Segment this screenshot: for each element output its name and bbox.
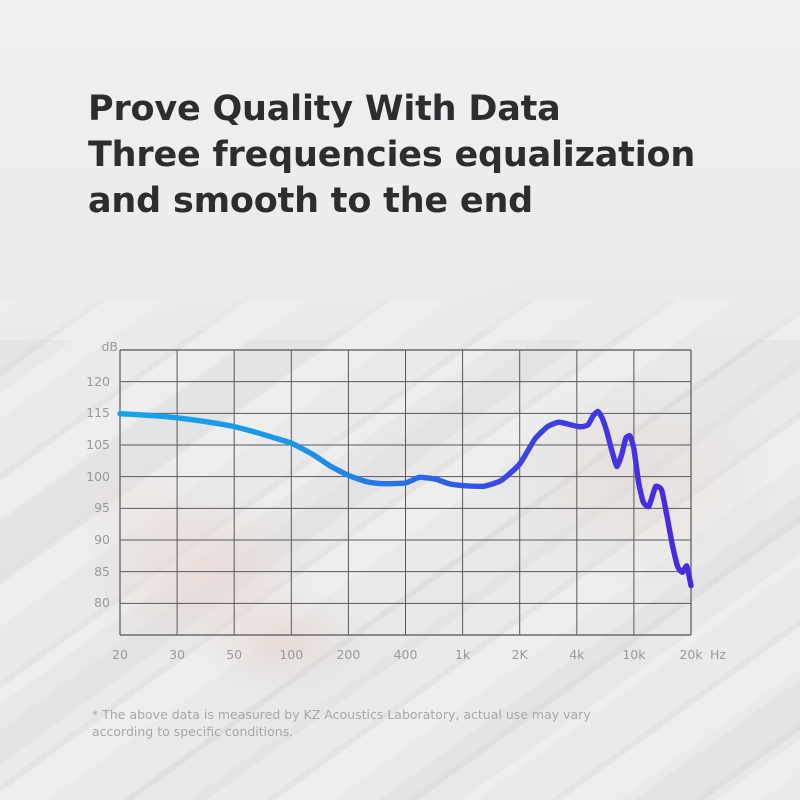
x-tick-label: 50	[211, 647, 257, 662]
y-tick-label: 120	[66, 374, 110, 389]
x-tick-label: 4k	[554, 647, 600, 662]
frequency-response-chart: 12011510510095908580 2030501002004001k2K…	[0, 0, 800, 800]
y-tick-label: 105	[66, 437, 110, 452]
x-tick-label: 1k	[440, 647, 486, 662]
x-tick-label: 20	[97, 647, 143, 662]
promo-page: Prove Quality With Data Three frequencie…	[0, 0, 800, 800]
y-tick-label: 80	[66, 595, 110, 610]
chart-gridlines	[120, 350, 691, 635]
measurement-disclaimer: * The above data is measured by KZ Acous…	[92, 706, 612, 740]
x-tick-label: 20k	[668, 647, 714, 662]
x-tick-label: 400	[383, 647, 429, 662]
x-tick-label: 200	[325, 647, 371, 662]
y-tick-label: 115	[66, 405, 110, 420]
y-tick-label: 100	[66, 469, 110, 484]
chart-canvas	[0, 0, 800, 800]
x-tick-label: 30	[154, 647, 200, 662]
y-tick-label: 90	[66, 532, 110, 547]
y-tick-label: 85	[66, 564, 110, 579]
x-tick-label: 10k	[611, 647, 657, 662]
x-axis-unit-label: Hz	[710, 647, 726, 662]
x-tick-label: 2K	[497, 647, 543, 662]
y-tick-label: 95	[66, 500, 110, 515]
x-tick-label: 100	[268, 647, 314, 662]
y-axis-unit-label: dB	[74, 339, 118, 354]
